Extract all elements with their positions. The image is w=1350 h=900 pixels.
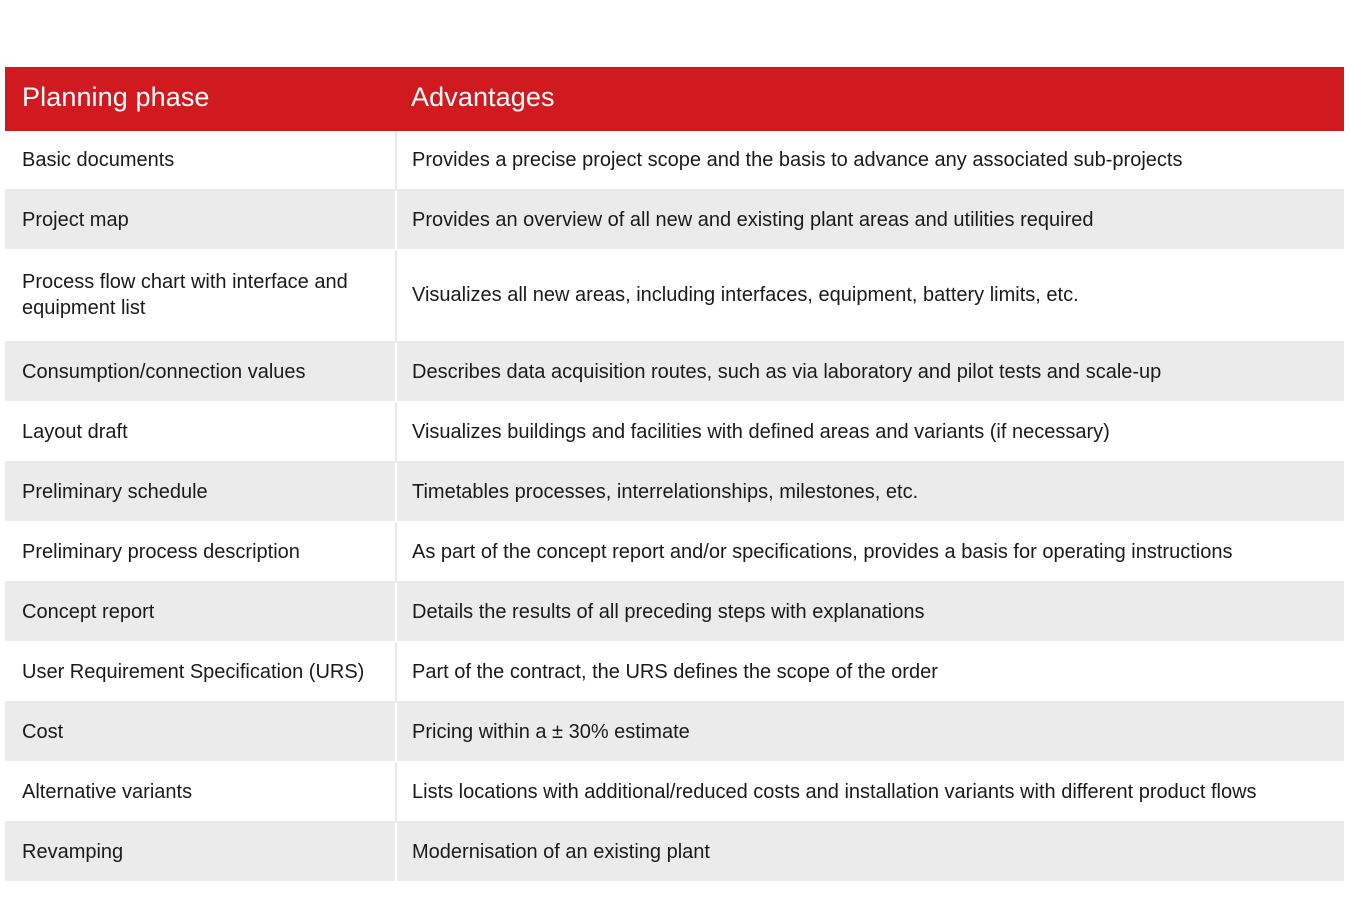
column-header-advantages: Advantages [396, 67, 1344, 131]
cell-advantage: Timetables processes, interrelationships… [396, 462, 1344, 522]
header-row: Planning phase Advantages [5, 67, 1344, 131]
cell-planning-phase: Process flow chart with interface and eq… [5, 250, 396, 342]
table-row: Layout draft Visualizes buildings and fa… [5, 402, 1344, 462]
table-row: Concept report Details the results of al… [5, 582, 1344, 642]
cell-planning-phase: Project map [5, 190, 396, 250]
cell-advantage: Describes data acquisition routes, such … [396, 342, 1344, 402]
cell-advantage: Provides a precise project scope and the… [396, 131, 1344, 190]
cell-advantage: As part of the concept report and/or spe… [396, 522, 1344, 582]
cell-advantage: Provides an overview of all new and exis… [396, 190, 1344, 250]
cell-advantage: Details the results of all preceding ste… [396, 582, 1344, 642]
table-row: Project map Provides an overview of all … [5, 190, 1344, 250]
cell-planning-phase: Basic documents [5, 131, 396, 190]
table-header: Planning phase Advantages [5, 67, 1344, 131]
cell-planning-phase: Alternative variants [5, 762, 396, 822]
table-row: User Requirement Specification (URS) Par… [5, 642, 1344, 702]
table-row: Preliminary schedule Timetables processe… [5, 462, 1344, 522]
cell-planning-phase: Cost [5, 702, 396, 762]
cell-advantage: Modernisation of an existing plant [396, 822, 1344, 882]
cell-advantage: Part of the contract, the URS defines th… [396, 642, 1344, 702]
column-header-planning-phase: Planning phase [5, 67, 396, 131]
cell-planning-phase: Consumption/connection values [5, 342, 396, 402]
cell-planning-phase: Revamping [5, 822, 396, 882]
planning-phase-table: Planning phase Advantages Basic document… [5, 67, 1344, 883]
cell-advantage: Visualizes buildings and facilities with… [396, 402, 1344, 462]
table-body: Basic documents Provides a precise proje… [5, 131, 1344, 882]
cell-advantage: Pricing within a ± 30% estimate [396, 702, 1344, 762]
cell-planning-phase: Layout draft [5, 402, 396, 462]
page-root: Planning phase Advantages Basic document… [0, 0, 1350, 900]
cell-planning-phase: Concept report [5, 582, 396, 642]
table-row: Basic documents Provides a precise proje… [5, 131, 1344, 190]
table-row: Consumption/connection values Describes … [5, 342, 1344, 402]
cell-planning-phase: Preliminary process description [5, 522, 396, 582]
table-row: Revamping Modernisation of an existing p… [5, 822, 1344, 882]
planning-phase-table-container: Planning phase Advantages Basic document… [5, 67, 1344, 883]
table-row: Cost Pricing within a ± 30% estimate [5, 702, 1344, 762]
table-row: Alternative variants Lists locations wit… [5, 762, 1344, 822]
table-row: Process flow chart with interface and eq… [5, 250, 1344, 342]
cell-planning-phase: User Requirement Specification (URS) [5, 642, 396, 702]
cell-advantage: Visualizes all new areas, including inte… [396, 250, 1344, 342]
table-row: Preliminary process description As part … [5, 522, 1344, 582]
cell-planning-phase: Preliminary schedule [5, 462, 396, 522]
cell-advantage: Lists locations with additional/reduced … [396, 762, 1344, 822]
